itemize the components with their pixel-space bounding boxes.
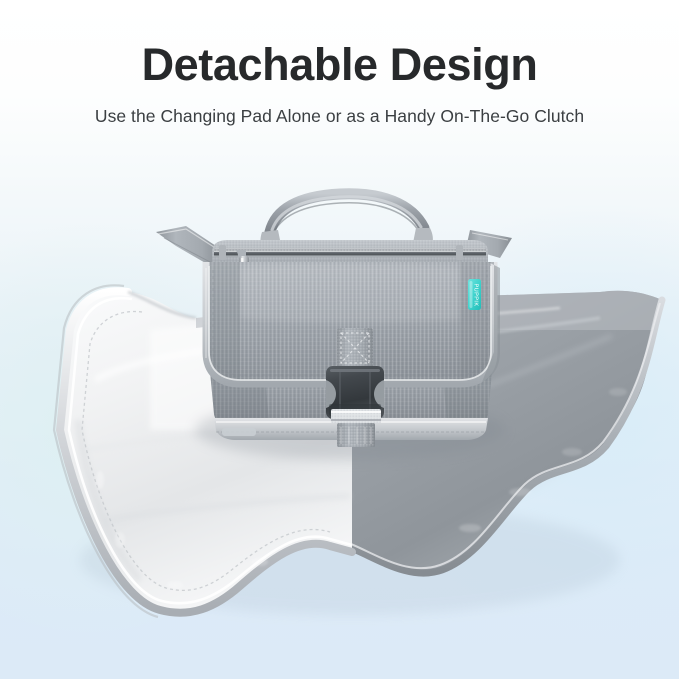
product-scene: PUPPIK [0, 0, 679, 679]
zipper-stop-left [219, 245, 226, 260]
brand-tag: PUPPIK [468, 279, 481, 310]
travel-clutch-bag[interactable]: PUPPIK [156, 194, 512, 460]
bag-foot-left [222, 428, 256, 436]
brand-tag-text: PUPPIK [473, 284, 479, 307]
zipper-stop-right [456, 245, 463, 260]
product-hero-image: Detachable Design Use the Changing Pad A… [0, 0, 679, 679]
